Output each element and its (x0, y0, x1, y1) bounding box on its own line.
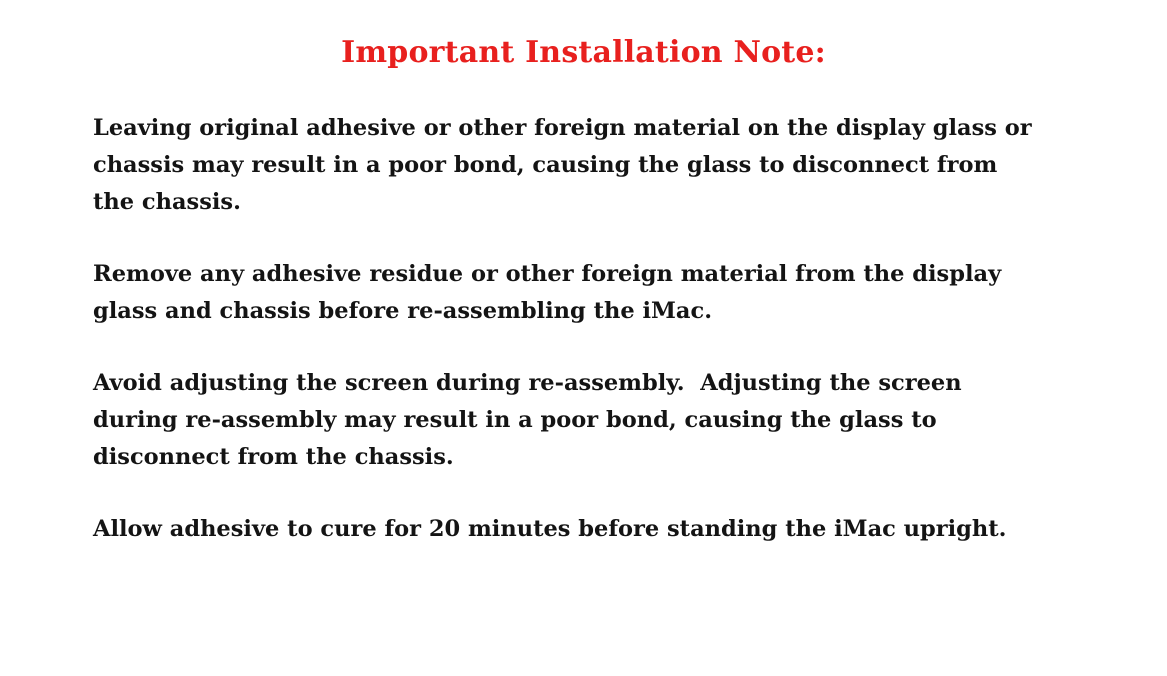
note-paragraph-cure-time-instruction: Allow adhesive to cure for 20 minutes be… (93, 511, 1038, 548)
note-paragraph-adhesive-residue-warning: Leaving original adhesive or other forei… (93, 110, 1038, 221)
note-paragraph-avoid-adjusting-screen-warning: Avoid adjusting the screen during re-ass… (93, 365, 1038, 476)
note-body: Leaving original adhesive or other forei… (93, 110, 1038, 548)
page-title: Important Installation Note: (0, 33, 1167, 73)
installation-note-page: Important Installation Note: Leaving ori… (0, 0, 1167, 676)
note-paragraph-remove-residue-instruction: Remove any adhesive residue or other for… (93, 256, 1038, 330)
